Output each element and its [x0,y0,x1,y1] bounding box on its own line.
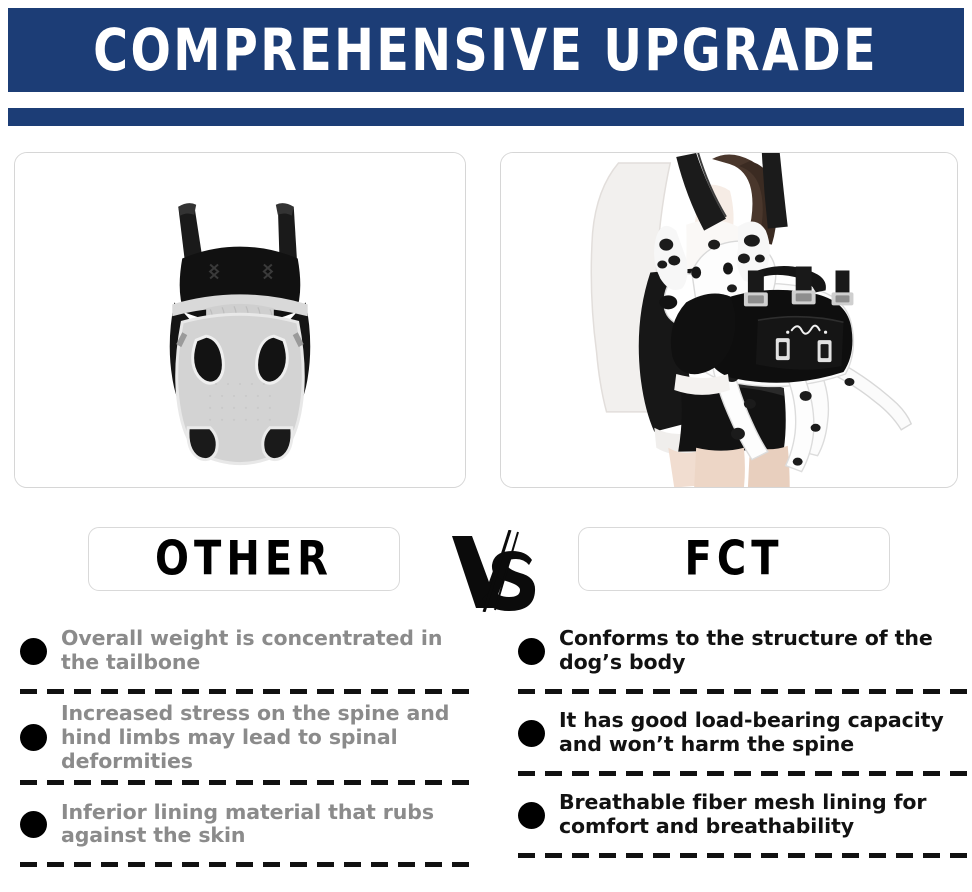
bullet-dot-icon [518,720,545,747]
list-item-label: Inferior lining material that rubs again… [61,801,472,849]
dashed-separator [20,689,472,694]
list-item: Overall weight is concentrated in the ta… [20,620,472,682]
dashed-separator [518,771,970,776]
dashed-separator [518,689,970,694]
other-feature-list: Overall weight is concentrated in the ta… [20,620,472,875]
fct-label-pill: FCT [578,527,890,591]
other-product-photo [15,153,465,488]
bullet-dot-icon [20,638,47,665]
bullet-dot-icon [20,724,47,751]
product-image-row [0,152,972,492]
bullet-dot-icon [518,802,545,829]
header-banner: COMPREHENSIVE UPGRADE [8,8,964,92]
list-item-label: Breathable fiber mesh lining for comfort… [559,791,970,839]
list-item-label: Conforms to the structure of the dog’s b… [559,627,970,675]
fct-feature-list: Conforms to the structure of the dog’s b… [518,620,970,866]
page-title: COMPREHENSIVE UPGRADE [94,21,879,79]
list-item-label: Increased stress on the spine and hind l… [61,702,472,773]
dashed-separator [20,862,472,867]
versus-icon [448,530,548,612]
other-label-pill: OTHER [88,527,400,591]
bullet-dot-icon [518,638,545,665]
other-label-text: OTHER [155,535,333,582]
header-accent-bar [8,108,964,126]
bullet-dot-icon [20,811,47,838]
list-item-label: Overall weight is concentrated in the ta… [61,627,472,675]
list-item: Breathable fiber mesh lining for comfort… [518,784,970,846]
fct-label-text: FCT [685,535,784,582]
dashed-separator [20,780,472,785]
versus-row: OTHER FCT [0,522,972,612]
list-item: Inferior lining material that rubs again… [20,793,472,855]
list-item: It has good load-bearing capacity and wo… [518,702,970,764]
list-item: Conforms to the structure of the dog’s b… [518,620,970,682]
fct-product-photo [501,153,957,488]
list-item: Increased stress on the spine and hind l… [20,702,472,773]
list-item-label: It has good load-bearing capacity and wo… [559,709,970,757]
dashed-separator [518,853,970,858]
other-product-panel [14,152,466,488]
fct-product-panel [500,152,958,488]
